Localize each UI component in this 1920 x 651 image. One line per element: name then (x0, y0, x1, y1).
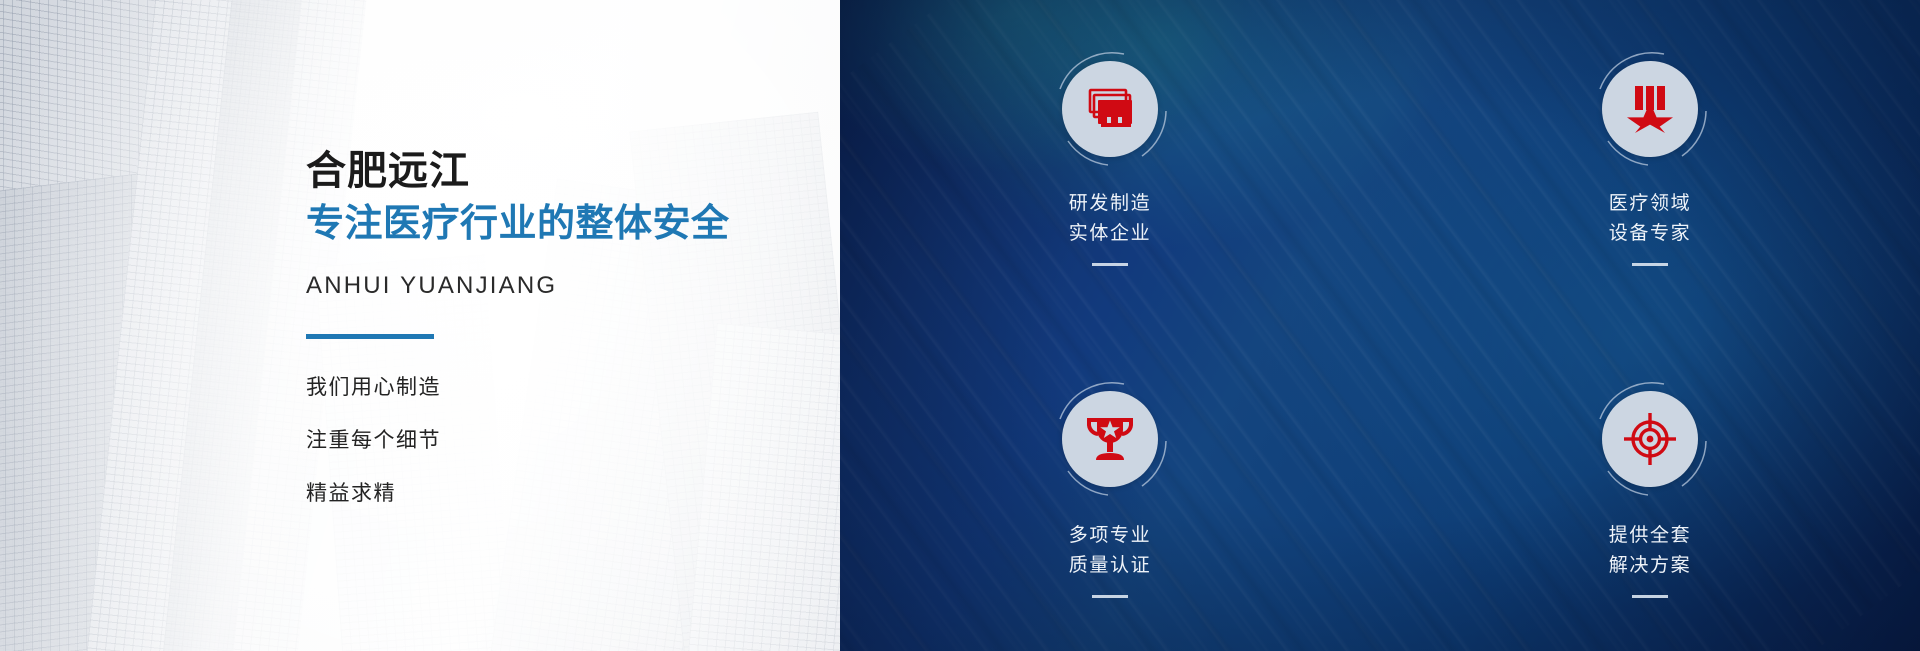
accent-divider (306, 334, 434, 339)
caption-underline-3 (1092, 595, 1128, 598)
slogan-item: 精益求精 (306, 483, 730, 504)
feature-disc-2 (1602, 61, 1698, 157)
caption-underline-2 (1632, 263, 1668, 266)
feature-icon-wrap-3 (1054, 383, 1166, 495)
feature-disc-3 (1062, 391, 1158, 487)
promo-banner: 合肥远江 专注医疗行业的整体安全 ANHUI YUANJIANG 我们用心制造 … (0, 0, 1920, 651)
feature-caption-line1: 提供全套 (1609, 521, 1691, 551)
feature-caption-4: 提供全套 解决方案 (1609, 521, 1691, 581)
feature-caption-3: 多项专业 质量认证 (1069, 521, 1151, 581)
feature-icon-wrap-1 (1054, 53, 1166, 165)
feature-caption-line2: 解决方案 (1609, 551, 1691, 581)
feature-disc-4 (1602, 391, 1698, 487)
feature-caption-line2: 实体企业 (1069, 219, 1151, 249)
feature-disc-1 (1062, 61, 1158, 157)
feature-item-4[interactable]: 提供全套 解决方案 (1380, 326, 1920, 651)
feature-caption-1: 研发制造 实体企业 (1069, 189, 1151, 249)
feature-icon-wrap-4 (1594, 383, 1706, 495)
feature-item-2[interactable]: 医疗领域 设备专家 (1380, 0, 1920, 326)
feature-item-1[interactable]: 研发制造 实体企业 (840, 0, 1380, 326)
feature-caption-line2: 质量认证 (1069, 551, 1151, 581)
hero-text-block: 合肥远江 专注医疗行业的整体安全 ANHUI YUANJIANG 我们用心制造 … (306, 0, 730, 651)
caption-underline-4 (1632, 595, 1668, 598)
feature-caption-line1: 研发制造 (1069, 189, 1151, 219)
medal-star-icon (1627, 84, 1673, 134)
feature-item-3[interactable]: 多项专业 质量认证 (840, 326, 1380, 651)
feature-caption-line1: 多项专业 (1069, 521, 1151, 551)
trophy-star-icon (1084, 414, 1136, 464)
feature-caption-line2: 设备专家 (1609, 219, 1691, 249)
feature-caption-2: 医疗领域 设备专家 (1609, 189, 1691, 249)
factory-stack-icon (1084, 87, 1136, 131)
feature-icon-wrap-2 (1594, 53, 1706, 165)
slogan-item: 注重每个细节 (306, 430, 730, 451)
feature-caption-line1: 医疗领域 (1609, 189, 1691, 219)
right-features-panel: 研发制造 实体企业 (840, 0, 1920, 651)
slogan-item: 我们用心制造 (306, 377, 730, 398)
company-name: 合肥远江 (306, 147, 730, 196)
left-hero-panel: 合肥远江 专注医疗行业的整体安全 ANHUI YUANJIANG 我们用心制造 … (0, 0, 840, 651)
caption-underline-1 (1092, 263, 1128, 266)
company-tagline: 专注医疗行业的整体安全 (306, 200, 730, 249)
company-name-en: ANHUI YUANJIANG (306, 272, 730, 300)
slogan-list: 我们用心制造 注重每个细节 精益求精 (306, 377, 730, 504)
feature-grid: 研发制造 实体企业 (840, 0, 1920, 651)
target-crosshair-icon (1623, 412, 1677, 466)
